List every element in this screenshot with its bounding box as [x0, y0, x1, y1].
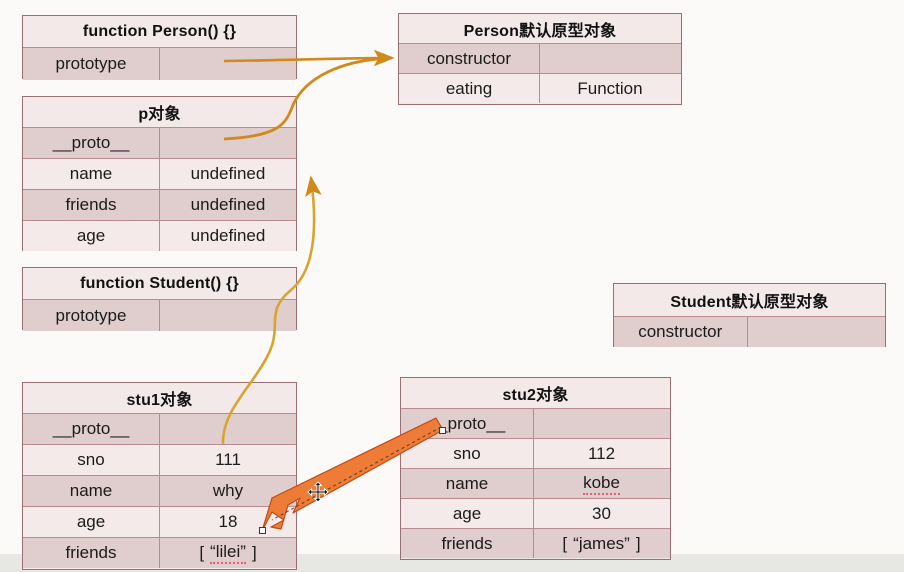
cell-key: friends [23, 538, 160, 568]
arrow-handle-start[interactable] [439, 427, 446, 434]
box-student-prototype-title-label: Student默认原型对象 [670, 288, 828, 312]
box-p-object[interactable]: p对象 __proto__ name undefined friends und… [22, 96, 297, 251]
box-stu2-object-title: stu2对象 [401, 378, 670, 409]
box-student-prototype-title: Student默认原型对象 [614, 284, 885, 317]
cell-key: name [23, 159, 160, 189]
table-row[interactable]: constructor [614, 317, 885, 347]
table-row[interactable]: prototype [23, 48, 296, 80]
box-stu2-object[interactable]: stu2对象 __proto__ sno 112 name kobe age 3… [400, 377, 671, 560]
diagram-canvas: function Person() {} prototype Person默认原… [0, 0, 904, 572]
table-row[interactable]: age 18 [23, 507, 296, 538]
cell-value: 30 [534, 499, 669, 528]
cell-key: __proto__ [23, 128, 160, 158]
box-p-object-title-label: p对象 [138, 100, 180, 124]
table-row[interactable]: age 30 [401, 499, 670, 529]
array-close-bracket: ] [252, 543, 257, 563]
cell-key: name [401, 469, 534, 498]
cell-value: 111 [160, 445, 296, 475]
cell-key: friends [23, 190, 160, 220]
box-person-function-title-label: function Person() {} [83, 23, 236, 41]
cell-value: Function [540, 74, 680, 103]
box-person-prototype[interactable]: Person默认原型对象 constructor eating Function [398, 13, 682, 105]
cell-key: prototype [23, 300, 160, 331]
cell-value: kobe [534, 469, 669, 498]
box-student-function-title-label: function Student() {} [80, 275, 239, 293]
box-person-prototype-title-label: Person默认原型对象 [464, 17, 617, 41]
move-cursor [307, 481, 329, 503]
box-student-function-title: function Student() {} [23, 268, 296, 300]
table-row[interactable]: sno 112 [401, 439, 670, 469]
cell-key: age [23, 507, 160, 537]
table-row[interactable]: name kobe [401, 469, 670, 499]
box-p-object-title: p对象 [23, 97, 296, 128]
cell-value: undefined [160, 190, 296, 220]
table-row[interactable]: constructor [399, 44, 681, 74]
cell-value: why [160, 476, 296, 506]
cell-value: 18 [160, 507, 296, 537]
cell-key: prototype [23, 48, 160, 80]
table-row[interactable]: sno 111 [23, 445, 296, 476]
table-row[interactable]: name undefined [23, 159, 296, 190]
cell-key: name [23, 476, 160, 506]
cell-key: __proto__ [23, 414, 160, 444]
array-open-bracket: [ [562, 534, 567, 554]
cell-key: constructor [614, 317, 748, 347]
cell-key: constructor [399, 44, 540, 73]
cell-value [160, 48, 296, 80]
cell-value [748, 317, 885, 347]
table-row[interactable]: friends [ “lilei” ] [23, 538, 296, 568]
cell-value: 112 [534, 439, 669, 468]
arrow-handle-end[interactable] [259, 527, 266, 534]
cell-key: age [23, 221, 160, 251]
cell-value: [ “james” ] [534, 529, 669, 558]
cell-value [540, 44, 680, 73]
array-close-bracket: ] [636, 534, 641, 554]
table-row[interactable]: name why [23, 476, 296, 507]
array-item-text: “james” [573, 534, 630, 554]
box-stu1-object-title-label: stu1对象 [126, 386, 192, 410]
table-row[interactable]: __proto__ [401, 409, 670, 439]
cell-value: [ “lilei” ] [160, 538, 296, 568]
cell-value: undefined [160, 159, 296, 189]
table-row[interactable]: __proto__ [23, 128, 296, 159]
box-person-prototype-title: Person默认原型对象 [399, 14, 681, 44]
cell-key: sno [23, 445, 160, 475]
cell-key: eating [399, 74, 540, 103]
box-student-function[interactable]: function Student() {} prototype [22, 267, 297, 330]
table-row[interactable]: __proto__ [23, 414, 296, 445]
array-open-bracket: [ [199, 543, 204, 563]
cell-key: age [401, 499, 534, 528]
box-student-prototype[interactable]: Student默认原型对象 constructor [613, 283, 886, 347]
cell-value [534, 409, 669, 438]
box-stu2-object-title-label: stu2对象 [502, 381, 568, 405]
array-item-text: “lilei” [210, 542, 246, 564]
table-row[interactable]: friends undefined [23, 190, 296, 221]
cell-value-text: kobe [583, 473, 620, 495]
table-row[interactable]: friends [ “james” ] [401, 529, 670, 558]
box-stu1-object-title: stu1对象 [23, 383, 296, 414]
cell-value [160, 128, 296, 158]
cell-value [160, 300, 296, 331]
table-row[interactable]: age undefined [23, 221, 296, 251]
box-person-function[interactable]: function Person() {} prototype [22, 15, 297, 79]
cell-value: undefined [160, 221, 296, 251]
cell-value [160, 414, 296, 444]
cell-key: __proto__ [401, 409, 534, 438]
box-stu1-object[interactable]: stu1对象 __proto__ sno 111 name why age 18… [22, 382, 297, 570]
cell-key: sno [401, 439, 534, 468]
table-row[interactable]: prototype [23, 300, 296, 331]
cell-key: friends [401, 529, 534, 558]
box-person-function-title: function Person() {} [23, 16, 296, 48]
table-row[interactable]: eating Function [399, 74, 681, 103]
